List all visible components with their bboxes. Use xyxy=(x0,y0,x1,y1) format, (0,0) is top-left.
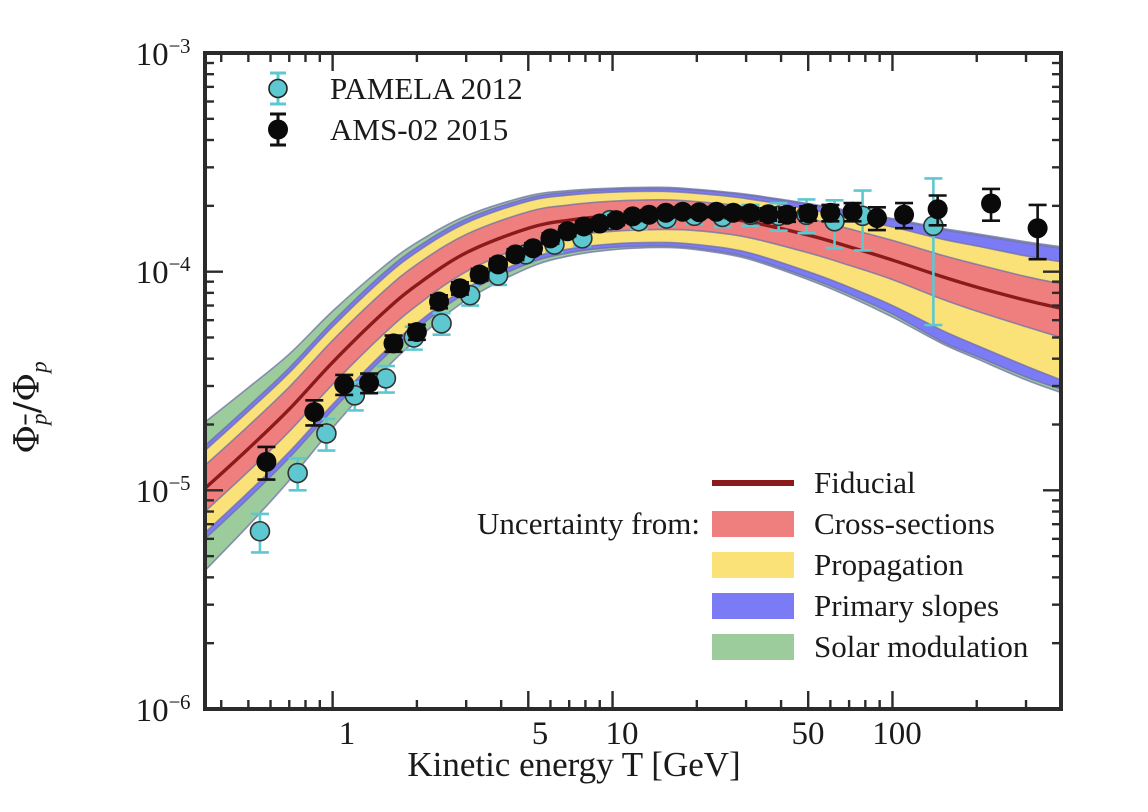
ams-marker-icon xyxy=(248,109,326,150)
legend-label-propagation: Propagation xyxy=(814,547,964,583)
legend-item-primary-slopes[interactable]: Primary slopes xyxy=(438,585,1028,626)
propagation-swatch xyxy=(712,552,794,578)
legend-uncertainty-prefix: Uncertainty from: xyxy=(438,506,712,542)
legend-datasets: PAMELA 2012 AMS-02 2015 xyxy=(248,68,523,150)
legend-label-fiducial: Fiducial xyxy=(814,465,916,501)
x-axis-title: Kinetic energy T [GeV] xyxy=(0,745,1148,785)
legend-label-primary-slopes: Primary slopes xyxy=(814,588,999,624)
y-tick-label-1: 10−3 xyxy=(40,34,190,74)
legend-item-ams[interactable]: AMS-02 2015 xyxy=(248,109,523,150)
legend-item-propagation[interactable]: Propagation xyxy=(438,544,1028,585)
y-tick-label-2: 10−4 xyxy=(40,252,190,292)
pamela-marker-icon xyxy=(248,68,326,109)
legend-label-cross-sections: Cross-sections xyxy=(814,506,995,542)
cross-sections-swatch xyxy=(712,511,794,537)
y-axis-title: Φp/Φp xyxy=(8,258,53,558)
legend-item-solar-modulation[interactable]: Solar modulation xyxy=(438,626,1028,667)
fiducial-line-swatch xyxy=(712,480,794,486)
y-tick-label-3: 10−5 xyxy=(40,471,190,511)
legend-item-pamela[interactable]: PAMELA 2012 xyxy=(248,68,523,109)
figure-root: 10−3 10−4 10−5 10−6 1 5 10 50 100 Kineti… xyxy=(0,0,1148,812)
solar-modulation-swatch xyxy=(712,634,794,660)
legend-label-ams: AMS-02 2015 xyxy=(326,112,508,148)
primary-slopes-swatch xyxy=(712,593,794,619)
legend-item-cross-sections[interactable]: Uncertainty from: Cross-sections xyxy=(438,503,1028,544)
legend-label-solar-modulation: Solar modulation xyxy=(814,629,1028,665)
legend-item-fiducial[interactable]: Fiducial xyxy=(438,462,1028,503)
legend-label-pamela: PAMELA 2012 xyxy=(326,71,523,107)
legend-uncertainty: Fiducial Uncertainty from: Cross-section… xyxy=(438,462,1028,667)
y-tick-label-4: 10−6 xyxy=(40,690,190,730)
